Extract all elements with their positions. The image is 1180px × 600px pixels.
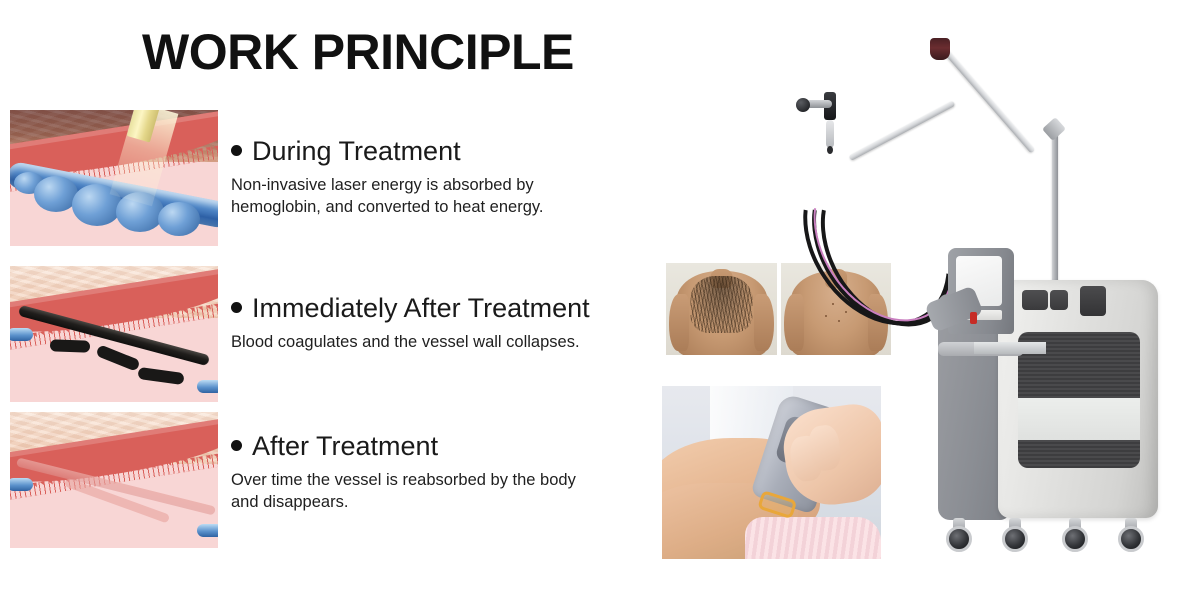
section-heading-label: During Treatment bbox=[252, 136, 461, 166]
bullet-icon bbox=[231, 302, 242, 313]
caster-wheel bbox=[946, 526, 972, 552]
vessel-bead bbox=[158, 202, 200, 236]
illustration-immediately-after-treatment bbox=[10, 266, 218, 402]
arm-counterweight-knob bbox=[796, 98, 810, 112]
vessel-end-right bbox=[197, 380, 218, 393]
illustration-after-treatment bbox=[10, 412, 218, 548]
skin-mark bbox=[845, 311, 847, 313]
photo-leg-treatment bbox=[662, 386, 881, 559]
caster-wheel bbox=[1118, 526, 1144, 552]
right-arm bbox=[754, 294, 774, 351]
left-arm bbox=[669, 294, 689, 351]
caster-wheel bbox=[1062, 526, 1088, 552]
vessel-end-left bbox=[10, 478, 33, 491]
work-principle-infographic: WORK PRINCIPLE bbox=[0, 0, 1180, 600]
machine-top-vent bbox=[1050, 290, 1068, 310]
laser-machine bbox=[930, 250, 1176, 560]
arm-drop-connector bbox=[826, 120, 834, 148]
towel bbox=[745, 517, 881, 559]
machine-top-connector bbox=[1080, 286, 1106, 316]
articulated-arm-right-segment bbox=[942, 47, 1036, 154]
section-immediately-after-treatment: Immediately After Treatment Blood coagul… bbox=[231, 293, 590, 354]
section-heading: Immediately After Treatment bbox=[231, 293, 590, 325]
machine-light-panel bbox=[1018, 398, 1140, 440]
arm-apex-pivot-icon bbox=[930, 38, 950, 60]
skin-mark bbox=[825, 315, 827, 317]
bullet-icon bbox=[231, 145, 242, 156]
bullet-icon bbox=[231, 440, 242, 451]
page-title: WORK PRINCIPLE bbox=[142, 26, 574, 79]
machine-tray-band bbox=[974, 342, 1046, 354]
section-after-treatment: After Treatment Over time the vessel is … bbox=[231, 431, 576, 514]
body-hair bbox=[691, 276, 753, 333]
vessel-end-right bbox=[197, 524, 218, 537]
section-during-treatment: During Treatment Non-invasive laser ener… bbox=[231, 136, 544, 219]
section-heading: After Treatment bbox=[231, 431, 576, 463]
vessel-end-left bbox=[10, 328, 33, 341]
arm-right-joint bbox=[1042, 117, 1066, 141]
machine-vent-panel-bottom bbox=[1018, 440, 1140, 468]
illustration-during-treatment bbox=[10, 110, 218, 246]
arm-drop-tip bbox=[827, 146, 833, 154]
section-body: Non-invasive laser energy is absorbed by… bbox=[231, 175, 544, 219]
section-body: Blood coagulates and the vessel wall col… bbox=[231, 332, 590, 354]
left-arm bbox=[784, 294, 804, 351]
machine-top-vent bbox=[1022, 290, 1048, 310]
section-heading: During Treatment bbox=[231, 136, 544, 168]
caster-wheel bbox=[1002, 526, 1028, 552]
coagulated-vessel-segment bbox=[50, 339, 90, 352]
section-body: Over time the vessel is reabsorbed by th… bbox=[231, 470, 576, 514]
articulated-arm-left-segment bbox=[848, 100, 955, 161]
emergency-stop-button[interactable] bbox=[970, 312, 977, 324]
section-heading-label: After Treatment bbox=[252, 431, 438, 461]
photo-back-before bbox=[666, 263, 777, 355]
section-heading-label: Immediately After Treatment bbox=[252, 293, 590, 323]
